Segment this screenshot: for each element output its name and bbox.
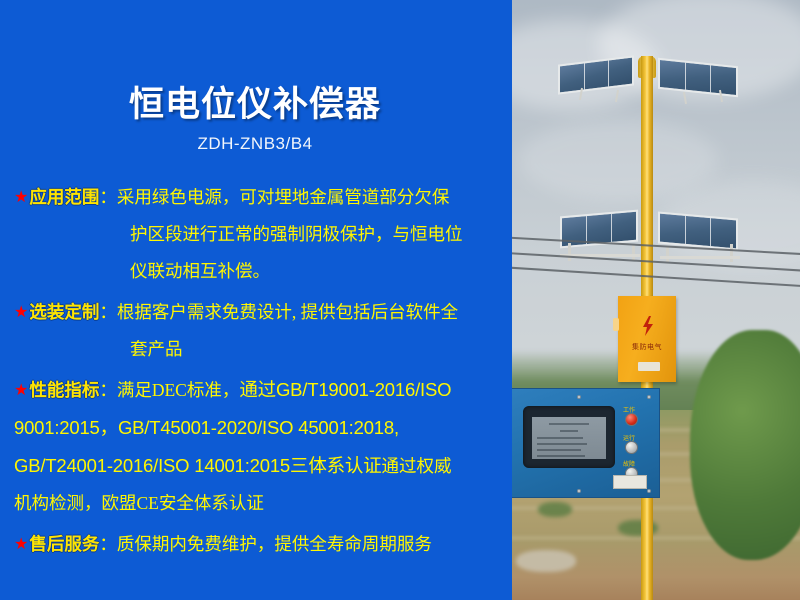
vegetation-clump	[538, 502, 572, 517]
panel-screw	[577, 489, 581, 493]
section-colon: ：	[99, 187, 117, 207]
hmi-screen-bezel	[523, 406, 615, 468]
screen-text-line	[560, 430, 578, 432]
section-label: 售后服务	[29, 534, 99, 554]
hmi-screen[interactable]	[532, 417, 606, 459]
section-line: 通过权威	[382, 456, 452, 476]
lightning-bolt-icon	[642, 316, 654, 336]
section-colon: ：	[99, 302, 117, 322]
product-slide: 集防电气 工作	[0, 0, 800, 600]
text-panel: 恒电位仪补偿器 ZDH-ZNB3/B4 ★应用范围：采用绿色电源，可对埋地金属管…	[0, 0, 510, 600]
section-customization: ★选装定制：根据客户需求免费设计, 提供包括后台软件全 套产品	[14, 293, 500, 368]
cabinet-nameplate	[638, 362, 660, 371]
section-colon: ：	[99, 380, 117, 400]
panel-support	[730, 244, 733, 262]
cloud-shape	[518, 120, 718, 200]
section-line: 仪联动相互补偿。	[130, 261, 270, 281]
indicator-lamp-work[interactable]	[625, 413, 638, 426]
star-bullet-icon: ★	[14, 380, 28, 399]
section-colon: ：	[99, 534, 117, 554]
section-label: 选装定制	[29, 302, 99, 322]
section-line: 质保期内免费维护，提供全寿命周期服务	[117, 534, 432, 554]
section-application: ★应用范围：采用绿色电源，可对埋地金属管道部分欠保 护区段进行正常的强制阴极保护…	[14, 178, 500, 290]
foreground-bush	[690, 330, 800, 560]
screen-text-line	[537, 455, 585, 457]
section-performance: ★性能指标：满足DEC标准，通过GB/T19001-2016/ISO 9001:…	[14, 371, 500, 522]
section-line: 护区段进行正常的强制阴极保护，与恒电位	[130, 224, 463, 244]
screen-text-line	[537, 443, 587, 445]
panel-screw	[647, 395, 651, 399]
control-box-nameplate	[613, 475, 647, 489]
section-line: 采用绿色电源，可对埋地金属管道部分欠保	[117, 187, 450, 207]
spec-list: ★应用范围：采用绿色电源，可对埋地金属管道部分欠保 护区段进行正常的强制阴极保护…	[14, 178, 500, 566]
vegetation-clump	[516, 550, 576, 572]
section-after-sales: ★售后服务：质保期内免费维护，提供全寿命周期服务	[14, 525, 500, 563]
star-bullet-icon: ★	[14, 534, 28, 553]
star-bullet-icon: ★	[14, 302, 28, 321]
section-label: 性能指标	[29, 380, 99, 400]
section-line: 机构检测，欧盟CE安全体系认证	[14, 493, 264, 513]
indicator-lamp-run[interactable]	[625, 441, 638, 454]
section-line: 根据客户需求免费设计, 提供包括后台软件全	[117, 302, 458, 322]
screen-text-line	[549, 423, 589, 425]
section-line: 满足DEC标准，	[117, 380, 240, 400]
product-photo: 集防电气 工作	[508, 0, 800, 600]
section-line: 套产品	[130, 339, 183, 359]
panel-screw	[647, 489, 651, 493]
screen-text-line	[537, 449, 581, 451]
model-subtitle: ZDH-ZNB3/B4	[0, 134, 510, 154]
cabinet-latch	[613, 318, 619, 331]
warning-cabinet: 集防电气	[618, 296, 676, 382]
cabinet-label: 集防电气	[618, 342, 676, 352]
section-line-emphasis: 9001:2015，GB/T45001-2020/ISO 45001:2018,	[14, 417, 399, 438]
panel-support	[568, 243, 571, 261]
screen-text-line	[537, 437, 583, 439]
panel-screw	[577, 395, 581, 399]
section-line-emphasis: GB/T24001-2016/ISO 14001:2015三体系认证	[14, 455, 382, 476]
star-bullet-icon: ★	[14, 187, 28, 206]
panel-crossbar	[660, 256, 740, 259]
control-panel-box: 工作 运行 故障	[508, 388, 660, 498]
section-label: 应用范围	[29, 187, 99, 207]
panel-support	[666, 246, 669, 262]
section-line-emphasis: 通过GB/T19001-2016/ISO	[239, 379, 451, 400]
page-title: 恒电位仪补偿器	[0, 76, 510, 127]
